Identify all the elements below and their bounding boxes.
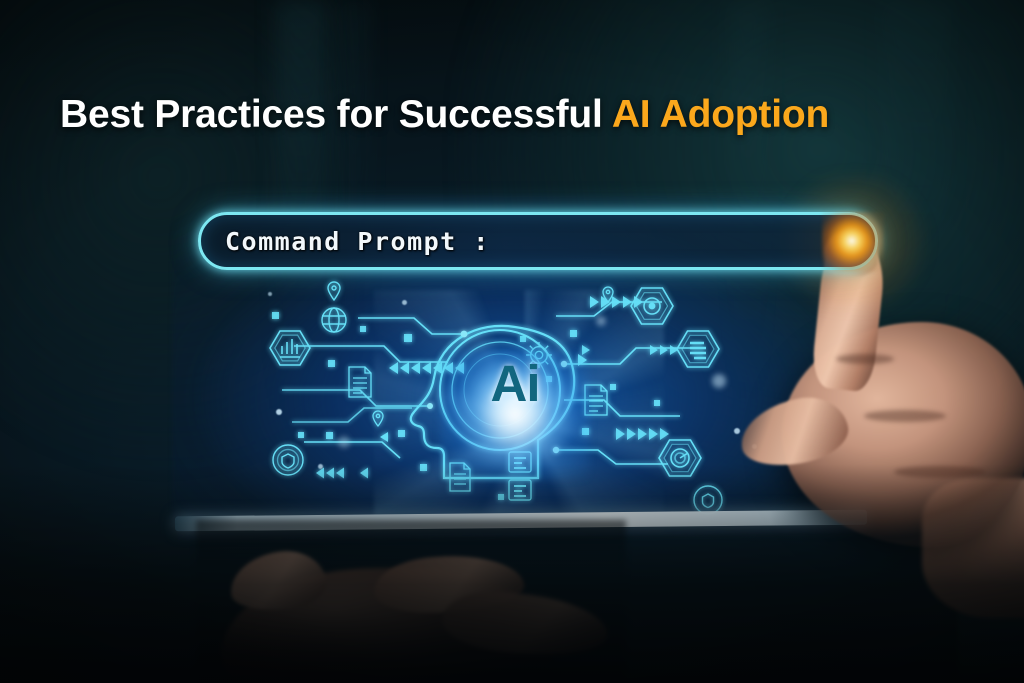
- page-title: Best Practices for Successful AI Adoptio…: [60, 93, 829, 137]
- page-title-main: Best Practices for Successful: [60, 93, 612, 136]
- page-title-accent: AI Adoption: [612, 93, 829, 136]
- poster-canvas: Ai Command Prompt : Best: [0, 0, 1024, 683]
